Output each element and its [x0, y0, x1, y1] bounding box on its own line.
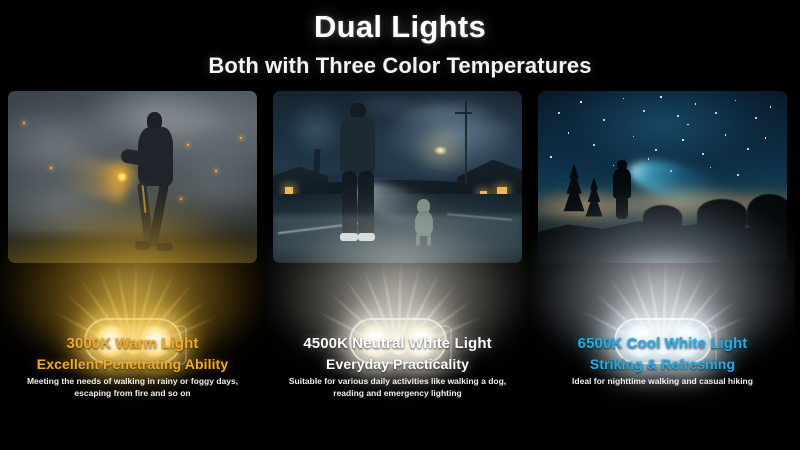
caption-heading: 6500K Cool White Light [530, 336, 795, 353]
star [580, 101, 582, 103]
utility-pole [465, 101, 467, 184]
scene-photo-cool [538, 91, 787, 263]
ember-particle [215, 170, 217, 172]
panel-cool[interactable]: 6500K Cool White Light Striking & Refres… [530, 88, 795, 450]
panel-neutral[interactable]: 4500K Neutral White Light Everyday Pract… [265, 88, 530, 450]
star [648, 158, 650, 160]
caption-subheading: Striking & Refreshing [530, 354, 795, 372]
caption-description-wrap: Suitable for various daily activities li… [265, 376, 530, 399]
page-subtitle: Both with Three Color Temperatures [0, 42, 800, 77]
caption-heading: 3000K Warm Light [0, 336, 265, 353]
cloud [422, 119, 517, 141]
scene-photo-neutral [273, 91, 522, 263]
caption-description: Meeting the needs of walking in rainy or… [9, 376, 256, 399]
panel-row: 3000K Warm Light Excellent Penetrating A… [0, 88, 800, 450]
star [737, 174, 739, 176]
header: Dual Lights Both with Three Color Temper… [0, 0, 800, 88]
caption-cool: 6500K Cool White Light Striking & Refres… [530, 332, 795, 450]
star [755, 117, 757, 119]
caption-subheading: Everyday Practicality [265, 354, 530, 372]
caption-heading: 4500K Neutral White Light [265, 336, 530, 353]
star [765, 137, 767, 139]
caption-neutral: 4500K Neutral White Light Everyday Pract… [265, 332, 530, 450]
person-silhouette [125, 112, 185, 253]
caption-subheading: Excellent Penetrating Ability [0, 354, 265, 372]
caption-description-wrap: Meeting the needs of walking in rainy or… [0, 376, 265, 399]
ember-particle [180, 198, 182, 200]
star [603, 119, 605, 121]
star [687, 124, 689, 126]
star [550, 156, 552, 158]
star [715, 112, 717, 114]
panel-warm[interactable]: 3000K Warm Light Excellent Penetrating A… [0, 88, 265, 450]
caption-description: Ideal for nighttime walking and casual h… [539, 376, 786, 388]
caption-warm: 3000K Warm Light Excellent Penetrating A… [0, 332, 265, 450]
star [558, 112, 560, 114]
caption-description: Suitable for various daily activities li… [274, 376, 521, 399]
star [747, 148, 749, 150]
ember-particle [23, 122, 25, 124]
utility-pole-arm [455, 112, 472, 114]
caption-description-wrap: Ideal for nighttime walking and casual h… [530, 376, 795, 388]
bush [747, 194, 787, 228]
star [682, 139, 684, 141]
star [660, 96, 662, 98]
person-silhouette [613, 160, 632, 218]
bush [697, 199, 747, 228]
page-title: Dual Lights [0, 0, 800, 42]
star [770, 106, 772, 108]
star [643, 110, 645, 112]
bush [643, 205, 683, 229]
scene-photo-warm [8, 91, 257, 263]
